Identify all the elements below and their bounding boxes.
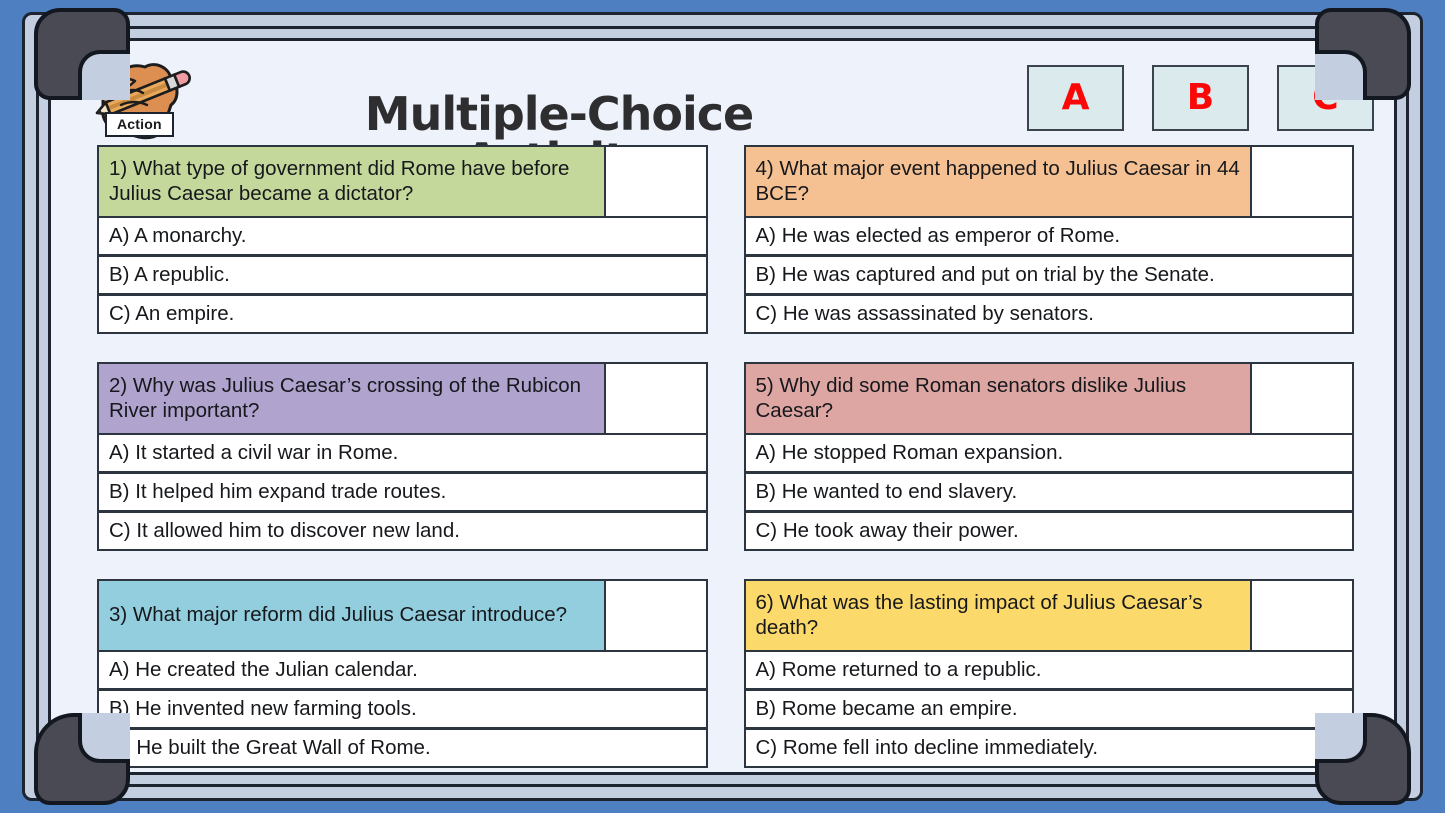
answer-input-cell[interactable] bbox=[606, 364, 706, 433]
question-block: 1) What type of government did Rome have… bbox=[97, 145, 708, 334]
answer-input-cell[interactable] bbox=[606, 581, 706, 650]
question-block: 2) Why was Julius Caesar’s crossing of t… bbox=[97, 362, 708, 551]
question-text: 3) What major reform did Julius Caesar i… bbox=[99, 581, 606, 650]
option-row[interactable]: C) It allowed him to discover new land. bbox=[97, 512, 708, 551]
question-header-row: 3) What major reform did Julius Caesar i… bbox=[97, 579, 708, 651]
answer-input-cell[interactable] bbox=[1252, 581, 1352, 650]
action-badge-label: Action bbox=[105, 112, 174, 137]
option-row[interactable]: B) He was captured and put on trial by t… bbox=[744, 256, 1355, 295]
corner-bracket-bottom-right bbox=[1315, 713, 1411, 805]
question-header-row: 1) What type of government did Rome have… bbox=[97, 145, 708, 217]
question-header-row: 4) What major event happened to Julius C… bbox=[744, 145, 1355, 217]
option-row[interactable]: A) He created the Julian calendar. bbox=[97, 651, 708, 690]
option-row[interactable]: A) He was elected as emperor of Rome. bbox=[744, 217, 1355, 256]
answer-key-label-a: A bbox=[1062, 80, 1090, 116]
question-header-row: 6) What was the lasting impact of Julius… bbox=[744, 579, 1355, 651]
option-row[interactable]: C) He took away their power. bbox=[744, 512, 1355, 551]
question-grid: 1) What type of government did Rome have… bbox=[51, 145, 1397, 768]
question-block: 4) What major event happened to Julius C… bbox=[744, 145, 1355, 334]
corner-bracket-bottom-left bbox=[34, 713, 130, 805]
option-row[interactable]: C) He was assassinated by senators. bbox=[744, 295, 1355, 334]
answer-key-label-b: B bbox=[1187, 80, 1214, 116]
question-text: 6) What was the lasting impact of Julius… bbox=[746, 581, 1253, 650]
option-row[interactable]: C) He built the Great Wall of Rome. bbox=[97, 729, 708, 768]
option-row[interactable]: A) A monarchy. bbox=[97, 217, 708, 256]
option-row[interactable]: B) It helped him expand trade routes. bbox=[97, 473, 708, 512]
question-block: 3) What major reform did Julius Caesar i… bbox=[97, 579, 708, 768]
answer-key-box-b[interactable]: B bbox=[1152, 65, 1249, 131]
option-row[interactable]: B) He invented new farming tools. bbox=[97, 690, 708, 729]
answer-key-box-a[interactable]: A bbox=[1027, 65, 1124, 131]
worksheet-page: Action Multiple-Choice Activity A B C 1)… bbox=[48, 38, 1397, 775]
question-header-row: 2) Why was Julius Caesar’s crossing of t… bbox=[97, 362, 708, 434]
answer-input-cell[interactable] bbox=[606, 147, 706, 216]
worksheet-canvas: Action Multiple-Choice Activity A B C 1)… bbox=[0, 0, 1445, 813]
corner-bracket-top-left bbox=[34, 8, 130, 100]
question-header-row: 5) Why did some Roman senators dislike J… bbox=[744, 362, 1355, 434]
question-text: 1) What type of government did Rome have… bbox=[99, 147, 606, 216]
option-row[interactable]: C) An empire. bbox=[97, 295, 708, 334]
question-block: 6) What was the lasting impact of Julius… bbox=[744, 579, 1355, 768]
option-row[interactable]: A) Rome returned to a republic. bbox=[744, 651, 1355, 690]
question-block: 5) Why did some Roman senators dislike J… bbox=[744, 362, 1355, 551]
option-row[interactable]: A) He stopped Roman expansion. bbox=[744, 434, 1355, 473]
answer-input-cell[interactable] bbox=[1252, 147, 1352, 216]
option-row[interactable]: B) A republic. bbox=[97, 256, 708, 295]
option-row[interactable]: B) He wanted to end slavery. bbox=[744, 473, 1355, 512]
answer-input-cell[interactable] bbox=[1252, 364, 1352, 433]
worksheet-header: Action Multiple-Choice Activity A B C bbox=[51, 41, 1397, 149]
option-row[interactable]: A) It started a civil war in Rome. bbox=[97, 434, 708, 473]
question-text: 5) Why did some Roman senators dislike J… bbox=[746, 364, 1253, 433]
option-row[interactable]: C) Rome fell into decline immediately. bbox=[744, 729, 1355, 768]
question-text: 2) Why was Julius Caesar’s crossing of t… bbox=[99, 364, 606, 433]
corner-bracket-top-right bbox=[1315, 8, 1411, 100]
question-text: 4) What major event happened to Julius C… bbox=[746, 147, 1253, 216]
option-row[interactable]: B) Rome became an empire. bbox=[744, 690, 1355, 729]
